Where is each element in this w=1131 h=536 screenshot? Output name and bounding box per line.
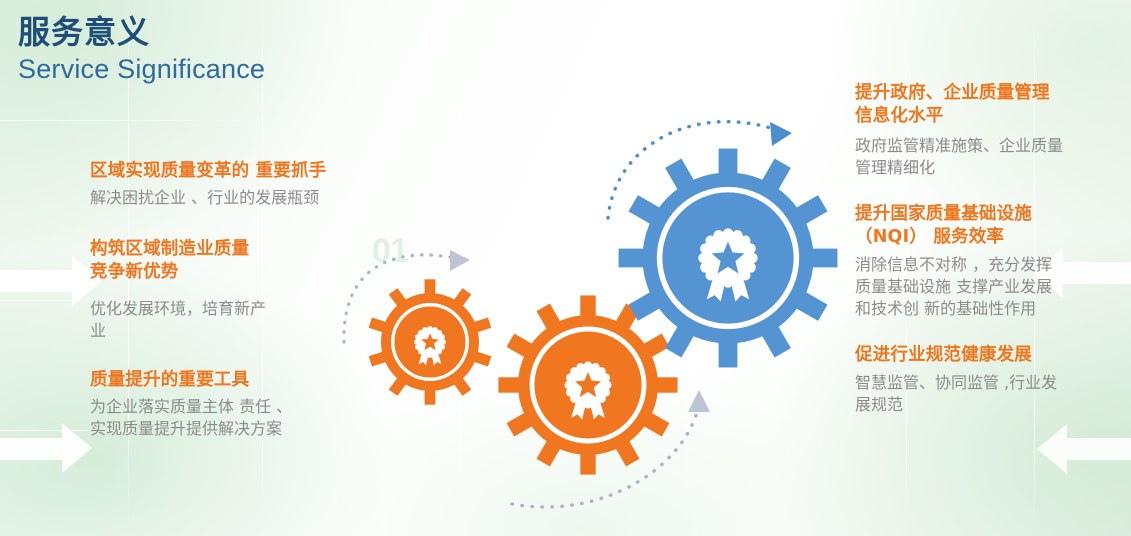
- list-item: 提升国家质量基础设施 （NQI） 服务效率 消除信息不对称 ，充分发挥 质量基础…: [855, 203, 1127, 320]
- edge-arrow-left-1: [0, 252, 104, 310]
- slide-canvas: 01: [0, 0, 1131, 536]
- dotted-arc-arrow-top-blue: [608, 122, 792, 218]
- background-vline-3: [460, 0, 461, 536]
- item-heading: 提升国家质量基础设施 （NQI） 服务效率: [855, 203, 1127, 250]
- item-body: 解决困扰企业 、行业的发展瓶颈: [90, 187, 400, 209]
- item-heading: 构筑区域制造业质量 竞争新优势: [90, 238, 400, 285]
- item-body: 智慧监管、协同监管 ,行业发 展规范: [855, 372, 1127, 416]
- gear-medium-orange: [498, 295, 677, 474]
- list-item: 构筑区域制造业质量 竞争新优势 优化发展环境，培育新产 业: [90, 238, 400, 343]
- item-body: 消除信息不对称 ，充分发挥 质量基础设施 支撑产业发展 和技术创 新的基础性作用: [855, 254, 1127, 320]
- item-body: 政府监管精准施策、企业质量 管理精细化: [855, 135, 1127, 179]
- title-english: Service Significance: [18, 53, 265, 85]
- gear-large-blue: [619, 149, 838, 368]
- item-heading: 促进行业规范健康发展: [855, 344, 1127, 367]
- background-hline-1: [0, 120, 300, 121]
- left-text-column: 区域实现质量变革的 重要抓手 解决困扰企业 、行业的发展瓶颈 构筑区域制造业质量…: [90, 160, 400, 440]
- right-text-column: 提升政府、企业质量管理 信息化水平 政府监管精准施策、企业质量 管理精细化 提升…: [855, 82, 1127, 416]
- dotted-arc-arrow-bottom-right: [512, 390, 710, 507]
- page-title: 服务意义 Service Significance: [18, 14, 265, 85]
- item-heading: 区域实现质量变革的 重要抓手: [90, 160, 400, 183]
- item-body: 优化发展环境，培育新产 业: [90, 298, 400, 342]
- list-item: 促进行业规范健康发展 智慧监管、协同监管 ,行业发 展规范: [855, 344, 1127, 416]
- item-heading: 质量提升的重要工具: [90, 369, 400, 392]
- edge-arrow-right-2: [1033, 420, 1131, 478]
- item-heading: 提升政府、企业质量管理 信息化水平: [855, 82, 1127, 129]
- list-item: 提升政府、企业质量管理 信息化水平 政府监管精准施策、企业质量 管理精细化: [855, 82, 1127, 179]
- list-item: 质量提升的重要工具 为企业落实质量主体 责任 、 实现质量提升提供解决方案: [90, 369, 400, 441]
- list-item: 区域实现质量变革的 重要抓手 解决困扰企业 、行业的发展瓶颈: [90, 160, 400, 210]
- title-chinese: 服务意义: [18, 14, 265, 51]
- item-body: 为企业落实质量主体 责任 、 实现质量提升提供解决方案: [90, 396, 400, 440]
- background-vline-4: [686, 0, 687, 536]
- edge-arrow-left-2: [0, 418, 96, 478]
